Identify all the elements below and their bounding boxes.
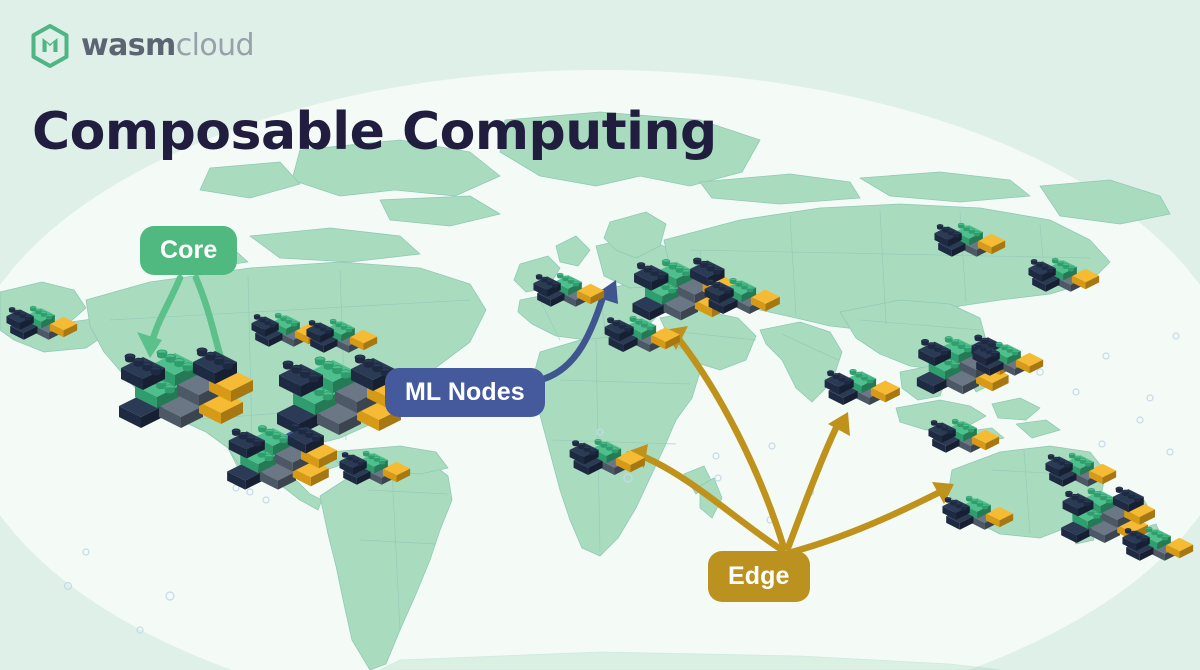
node-marker[interactable] [214,424,337,498]
node-marker[interactable] [926,418,1000,455]
brand-wordmark: wasmcloud [81,31,254,61]
node-marker[interactable] [337,450,411,487]
wasmcloud-hexagon-logo-icon [30,24,70,68]
node-marker[interactable] [4,305,78,342]
node-marker[interactable] [602,315,681,355]
page-title: Composable Computing [32,103,717,161]
node-marker[interactable] [932,222,1006,259]
legend-pill-core[interactable]: Core [140,226,237,275]
node-marker[interactable] [304,318,378,355]
infographic-canvas: wasmcloud Composable Computing Core ML N… [0,0,1200,670]
legend-pill-ml-nodes[interactable]: ML Nodes [385,368,545,417]
legend-pill-edge[interactable]: Edge [708,551,810,602]
node-marker[interactable] [1043,452,1117,489]
world-map [0,0,1200,670]
node-marker[interactable] [567,438,646,478]
brand-name-light: cloud [176,28,254,63]
node-marker[interactable] [822,368,901,408]
node-marker[interactable] [1026,257,1100,294]
brand-logo[interactable]: wasmcloud [30,25,254,67]
node-marker[interactable] [702,277,781,317]
node-marker[interactable] [531,272,605,309]
node-marker[interactable] [970,341,1044,378]
brand-name-bold: wasm [81,28,176,63]
node-marker[interactable] [940,495,1014,532]
node-marker[interactable] [1120,526,1194,563]
